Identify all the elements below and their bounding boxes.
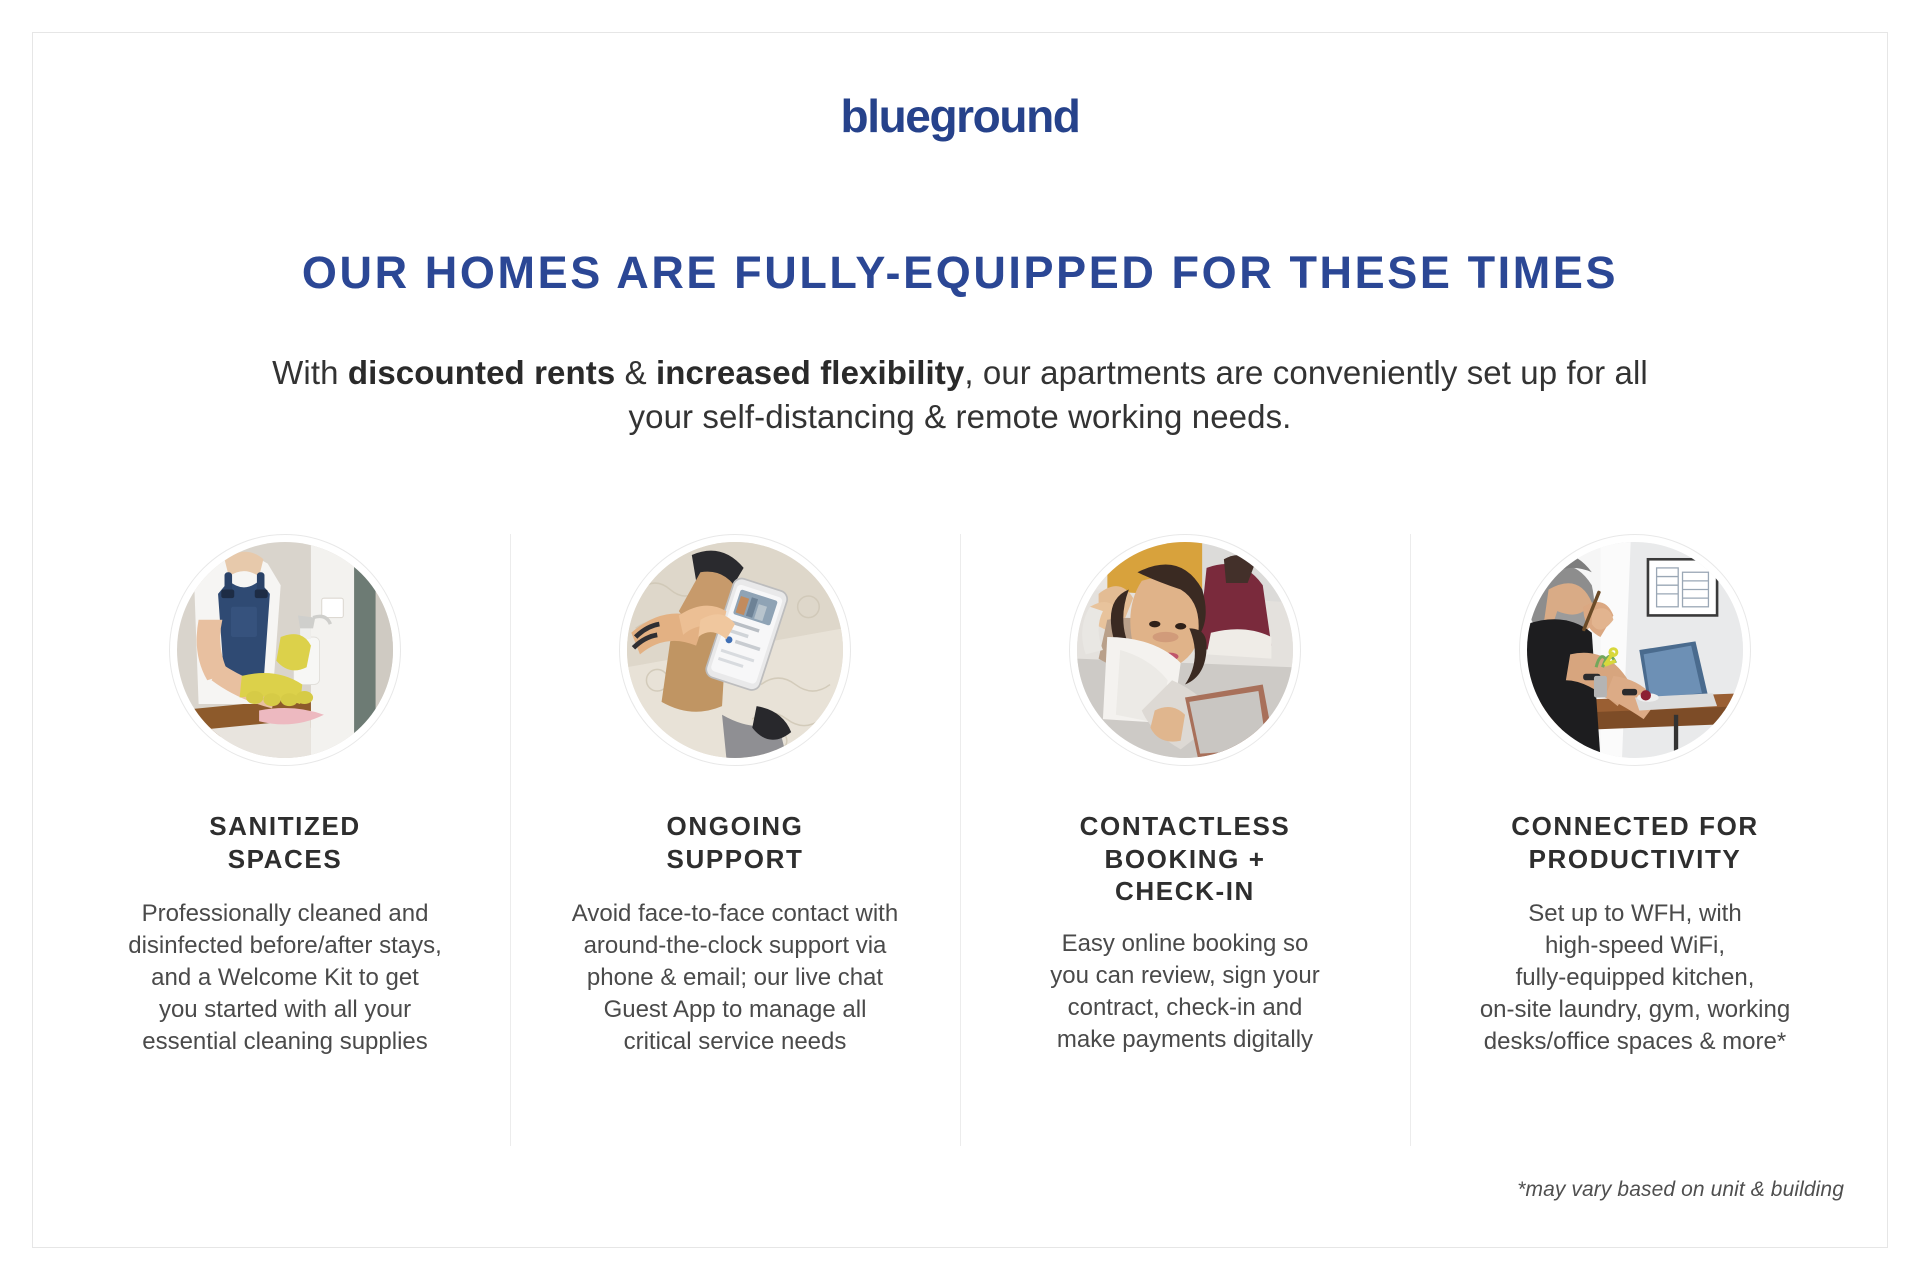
feature-title: ONGOING SUPPORT — [667, 810, 804, 875]
feature-column-ongoing-support: ONGOING SUPPORT Avoid face-to-face conta… — [510, 534, 960, 1146]
cleaning-photo-icon — [177, 542, 393, 758]
feature-column-contactless-booking: CONTACTLESS BOOKING + CHECK-IN Easy onli… — [960, 534, 1410, 1146]
feature-photo-ring — [619, 534, 851, 766]
feature-column-connected-productivity: CONNECTED FOR PRODUCTIVITY Set up to WFH… — [1410, 534, 1860, 1146]
footnote-disclaimer: *may vary based on unit & building — [1517, 1178, 1844, 1202]
smartphone-photo-icon — [627, 542, 843, 758]
marketing-page: blueground OUR HOMES ARE FULLY-EQUIPPED … — [0, 0, 1920, 1280]
working-at-desk-photo-icon — [1527, 542, 1743, 758]
blueground-logo: blueground — [0, 93, 1920, 139]
page-subheadline: With discounted rents & increased flexib… — [260, 351, 1660, 438]
feature-photo-ring — [169, 534, 401, 766]
subhead-text-1: With — [272, 354, 348, 391]
feature-column-sanitized-spaces: SANITIZED SPACES Professionally cleaned … — [60, 534, 510, 1146]
feature-title: SANITIZED SPACES — [209, 810, 361, 875]
feature-body: Easy online booking so you can review, s… — [1050, 928, 1319, 1056]
feature-photo-ring — [1069, 534, 1301, 766]
feature-body: Avoid face-to-face contact with around-t… — [572, 898, 898, 1058]
subhead-bold-discounted-rents: discounted rents — [348, 354, 615, 391]
feature-title: CONTACTLESS BOOKING + CHECK-IN — [1080, 810, 1291, 908]
feature-body: Professionally cleaned and disinfected b… — [128, 898, 442, 1058]
feature-columns: SANITIZED SPACES Professionally cleaned … — [60, 534, 1860, 1146]
feature-title: CONNECTED FOR PRODUCTIVITY — [1511, 810, 1759, 875]
subhead-text-2: & — [615, 354, 656, 391]
page-headline: OUR HOMES ARE FULLY-EQUIPPED FOR THESE T… — [0, 249, 1920, 296]
subhead-bold-increased-flexibility: increased flexibility — [656, 354, 964, 391]
tablet-on-bed-photo-icon — [1077, 542, 1293, 758]
feature-photo-ring — [1519, 534, 1751, 766]
feature-body: Set up to WFH, with high-speed WiFi, ful… — [1480, 898, 1790, 1058]
